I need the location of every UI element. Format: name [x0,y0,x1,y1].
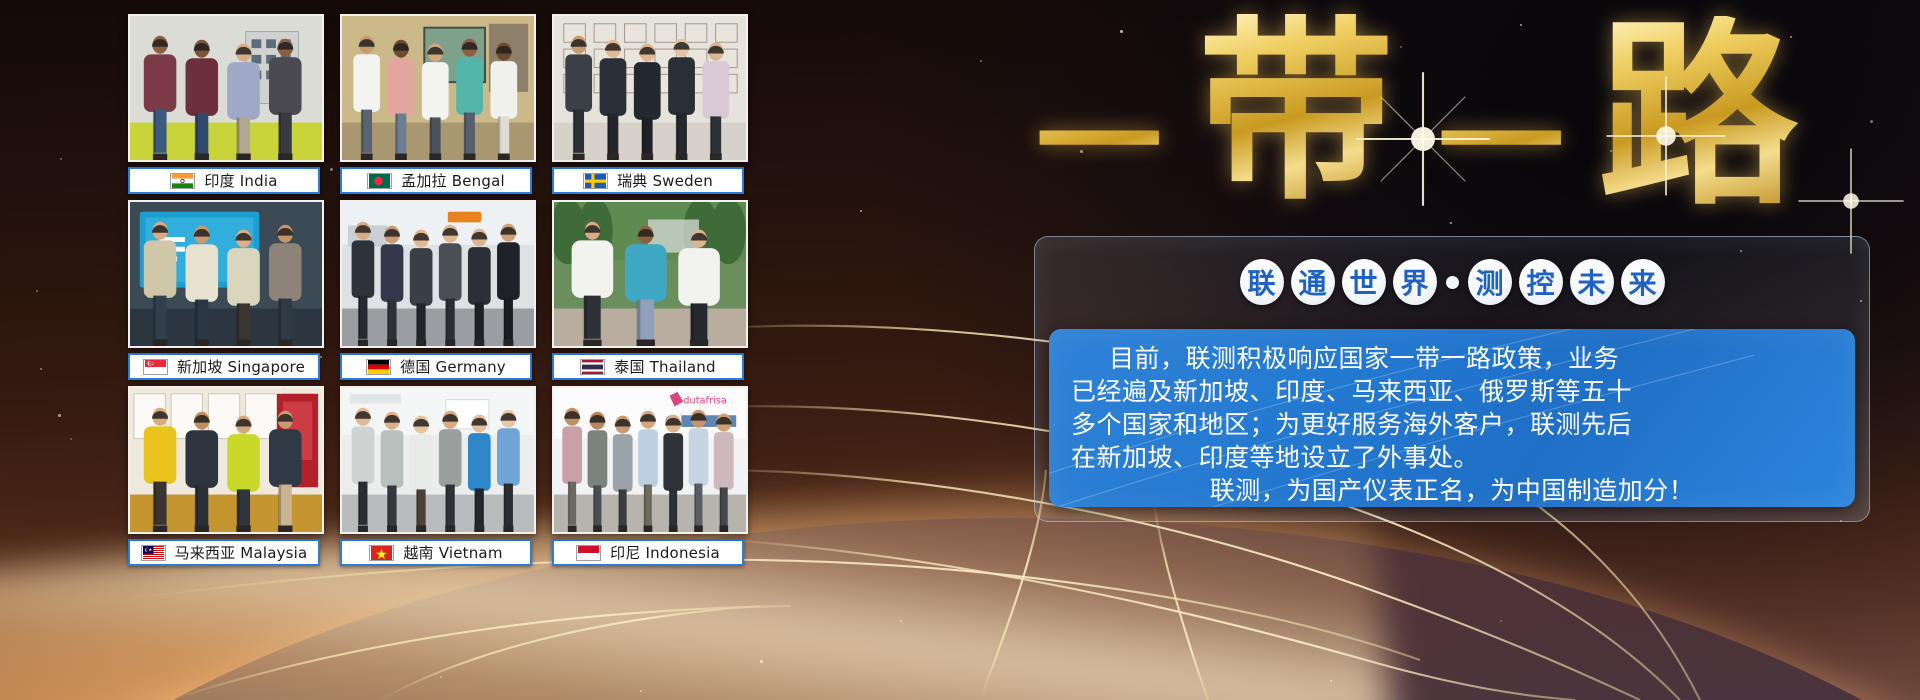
gallery-item[interactable]: 孟加拉 Bengal [340,14,536,199]
country-photo[interactable] [552,200,748,348]
slogan-bubble: 测 [1468,259,1512,305]
slogan-bubble: 未 [1570,259,1614,305]
country-caption: 印尼 Indonesia [552,539,744,566]
country-photo[interactable] [128,200,324,348]
paragraph-line: 多个国家和地区；为更好服务海外客户，联测先后 [1071,408,1833,441]
country-label: 孟加拉 Bengal [401,170,505,191]
country-label: 马来西亚 Malaysia [175,542,308,563]
slogan-bubble: 联 [1240,259,1284,305]
flag-thailand-icon [580,359,605,375]
flag-bangladesh-icon [367,173,392,189]
gallery-item[interactable]: 印度 India [128,14,324,199]
country-photo[interactable] [340,200,536,348]
flag-malaysia-icon [141,545,166,561]
slogan-bubble: 控 [1519,259,1563,305]
belt-and-road-calligraphy: 一 带 一 路 [1030,8,1870,220]
country-label: 德国 Germany [400,356,506,377]
flag-singapore-icon [143,359,168,375]
slogan-bubble: 世 [1342,259,1386,305]
country-photo[interactable] [340,14,536,162]
country-photo[interactable]: dutafrisa [552,386,748,534]
slogan-bubble: 通 [1291,259,1335,305]
paragraph-line: 目前，联测积极响应国家一带一路政策，业务 [1071,342,1833,375]
country-label: 泰国 Thailand [614,356,715,377]
country-caption: 德国 Germany [340,353,532,380]
country-caption: 孟加拉 Bengal [340,167,532,194]
info-panel: 联通世界测控未来 目前，联测积极响应国家一带一路政策，业务 已经遍及新加坡、印度… [1034,236,1870,522]
country-caption: 印度 India [128,167,320,194]
flag-vietnam-icon [369,545,394,561]
flag-india-icon [170,173,195,189]
country-label: 印度 India [204,170,277,191]
flag-germany-icon [366,359,391,375]
flag-sweden-icon [583,173,608,189]
paragraph-line: 在新加坡、印度等地设立了外事处。 [1071,441,1833,474]
country-caption: 瑞典 Sweden [552,167,744,194]
svg-text:dutafrisa: dutafrisa [683,396,727,407]
country-caption: 新加坡 Singapore [128,353,320,380]
country-caption: 马来西亚 Malaysia [128,539,320,566]
gallery-item[interactable]: 越南 Vietnam [340,386,536,571]
gallery-item[interactable]: 瑞典 Sweden [552,14,748,199]
flag-indonesia-icon [576,545,601,561]
calligraphy-char-2: 带 [1198,14,1394,210]
country-photo[interactable] [128,14,324,162]
country-photo[interactable] [552,14,748,162]
country-caption: 泰国 Thailand [552,353,744,380]
gallery-item[interactable]: 德国 Germany [340,200,536,385]
country-caption: 越南 Vietnam [340,539,532,566]
slogan-bubbles: 联通世界测控未来 [1035,259,1869,305]
paragraph-line: 已经遍及新加坡、印度、马来西亚、俄罗斯等五十 [1071,375,1833,408]
paragraph-box: 目前，联测积极响应国家一带一路政策，业务 已经遍及新加坡、印度、马来西亚、俄罗斯… [1049,329,1855,507]
slogan-bubble: 来 [1621,259,1665,305]
country-photo-gallery: 印度 India孟加拉 Bengal瑞典 Sweden新加坡 Singapore… [128,14,760,586]
country-label: 越南 Vietnam [403,542,502,563]
paragraph-line: 联测，为国产仪表正名，为中国制造加分！ [1071,474,1833,507]
country-label: 瑞典 Sweden [617,170,713,191]
calligraphy-char-3: 一 [1438,80,1564,206]
slogan-separator-dot [1446,276,1459,289]
calligraphy-char-1: 一 [1036,80,1162,206]
gallery-item[interactable]: 马来西亚 Malaysia [128,386,324,571]
country-photo[interactable] [340,386,536,534]
slogan-bubble: 界 [1393,259,1437,305]
calligraphy-char-4: 路 [1598,16,1798,216]
country-label: 新加坡 Singapore [177,356,305,377]
gallery-item[interactable]: dutafrisa印尼 Indonesia [552,386,748,571]
gallery-item[interactable]: 新加坡 Singapore [128,200,324,385]
country-photo[interactable] [128,386,324,534]
gallery-item[interactable]: 泰国 Thailand [552,200,748,385]
country-label: 印尼 Indonesia [610,542,720,563]
